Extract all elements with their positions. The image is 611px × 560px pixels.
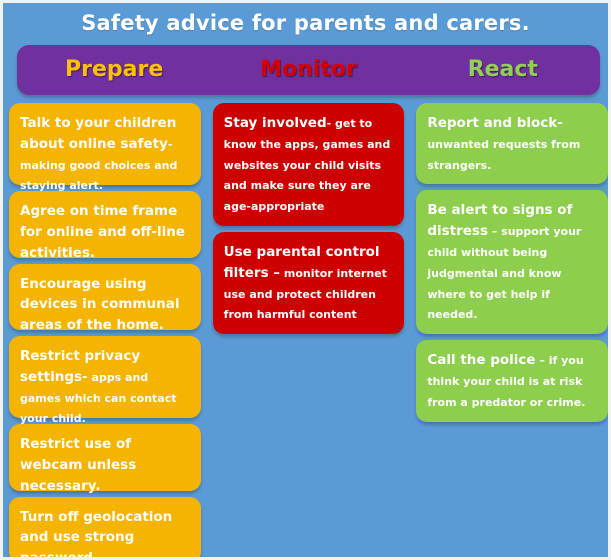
page-title: Safety advice for parents and carers. [3,3,608,34]
card-lead-text: Talk to your children about online safet… [20,115,176,152]
card-rest-text: unwanted requests from strangers. [427,138,580,172]
card-lead-text: Turn off geolocation and use strong pass… [20,509,172,560]
card-lead-text: Restrict use of webcam unless necessary. [20,436,136,494]
card-lead-text: Report and block- [427,115,563,131]
card-rest-text: - get to know the apps, games and websit… [224,117,391,213]
column-header-monitor: Monitor [211,59,405,81]
advice-card: Encourage using devices in communal area… [9,264,201,330]
card-lead-text: Call the police [427,352,535,368]
advice-columns: Talk to your children about online safet… [3,103,611,560]
advice-card: Stay involved- get to know the apps, gam… [213,103,405,226]
advice-card: Restrict privacy settings- apps and game… [9,336,201,418]
advice-card: Restrict use of webcam unless necessary. [9,424,201,490]
card-lead-text: Agree on time frame for online and off-l… [20,203,185,261]
column-react: Report and block- unwanted requests from… [410,103,611,560]
column-prepare: Talk to your children about online safet… [3,103,207,560]
column-header-react: React [406,59,600,81]
advice-card: Be alert to signs of distress – support … [416,190,608,334]
advice-card: Call the police – if you think your chil… [416,340,608,421]
advice-card: Report and block- unwanted requests from… [416,103,608,184]
card-rest-text: – support your child without being judgm… [427,225,581,321]
safety-advice-poster: Safety advice for parents and carers. Pr… [0,0,611,560]
card-lead-text: Encourage using devices in communal area… [20,276,179,334]
column-monitor: Stay involved- get to know the apps, gam… [207,103,411,560]
advice-card: Talk to your children about online safet… [9,103,201,185]
advice-card: Turn off geolocation and use strong pass… [9,497,201,560]
column-header-prepare: Prepare [17,59,211,81]
advice-card: Agree on time frame for online and off-l… [9,191,201,257]
advice-card: Use parental control filters – monitor i… [213,232,405,334]
card-lead-text: Stay involved [224,115,327,131]
column-header-band: Prepare Monitor React [17,45,600,95]
